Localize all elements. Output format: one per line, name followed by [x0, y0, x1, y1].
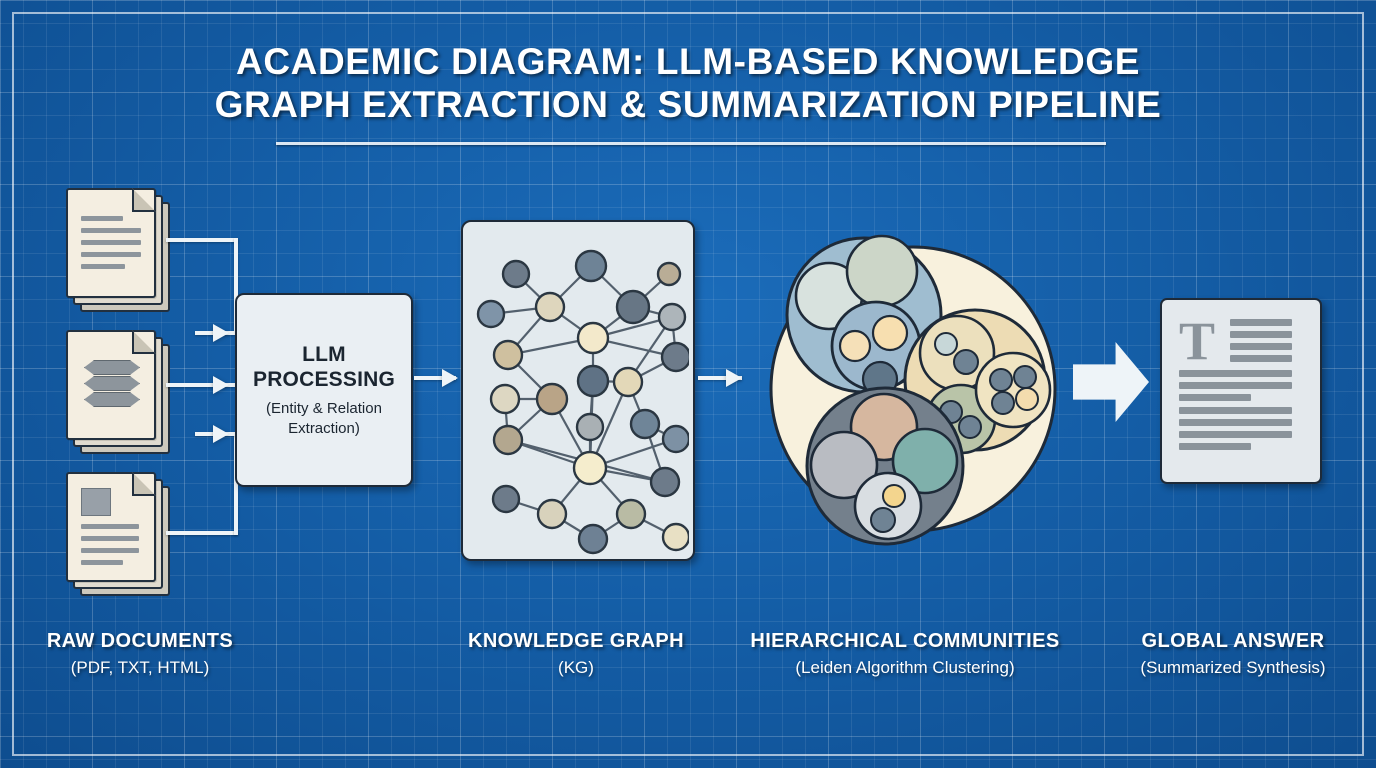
graph-node	[574, 452, 606, 484]
global-answer-document[interactable]: T	[1160, 298, 1322, 484]
graph-node	[493, 486, 519, 512]
caption-title: KNOWLEDGE GRAPH	[436, 630, 716, 653]
arrowhead-kg-comm	[726, 369, 742, 387]
caption-title: HIERARCHICAL COMMUNITIES	[700, 630, 1110, 653]
title-line-2: GRAPH EXTRACTION & SUMMARIZATION PIPELIN…	[0, 83, 1376, 126]
document-stack-image[interactable]	[66, 472, 166, 592]
document-stack-text[interactable]	[66, 188, 166, 308]
graph-node	[617, 500, 645, 528]
graph-node	[576, 251, 606, 281]
caption-global-answer: GLOBAL ANSWER (Summarized Synthesis)	[1090, 630, 1376, 678]
graph-node	[578, 366, 608, 396]
title-line-1: ACADEMIC DIAGRAM: LLM-BASED KNOWLEDGE	[0, 40, 1376, 83]
caption-subtitle: (Leiden Algorithm Clustering)	[700, 658, 1110, 678]
knowledge-graph-panel[interactable]	[461, 220, 695, 561]
graph-node	[578, 323, 608, 353]
knowledge-graph-network	[463, 222, 689, 555]
graph-node	[577, 414, 603, 440]
block-arrow-to-answer	[1073, 342, 1149, 422]
caption-title: RAW DOCUMENTS	[0, 630, 280, 653]
arrowhead-llm-kg	[442, 369, 458, 387]
arrowhead-doc3	[213, 425, 229, 443]
document-stack-layers[interactable]	[66, 330, 166, 450]
arrowhead-doc1	[213, 324, 229, 342]
caption-raw-documents: RAW DOCUMENTS (PDF, TXT, HTML)	[0, 630, 280, 678]
graph-node	[579, 525, 607, 553]
graph-node	[631, 410, 659, 438]
page-fold	[132, 472, 156, 496]
caption-subtitle: (PDF, TXT, HTML)	[0, 658, 280, 678]
graph-node	[651, 468, 679, 496]
page-title: ACADEMIC DIAGRAM: LLM-BASED KNOWLEDGE GR…	[0, 40, 1376, 126]
caption-subtitle: (Summarized Synthesis)	[1090, 658, 1376, 678]
graph-node	[494, 341, 522, 369]
document-image-icon	[66, 472, 156, 582]
graph-node	[536, 293, 564, 321]
llm-box-subtitle: (Entity & Relation Extraction)	[237, 399, 411, 439]
diagram-canvas: ACADEMIC DIAGRAM: LLM-BASED KNOWLEDGE GR…	[0, 0, 1376, 768]
graph-node	[663, 426, 689, 452]
graph-node	[494, 426, 522, 454]
connector-doc3-h	[166, 531, 238, 535]
connector-doc1-h	[166, 238, 238, 242]
layers-glyph	[84, 360, 138, 406]
graph-node	[538, 500, 566, 528]
caption-subtitle: (KG)	[436, 658, 716, 678]
page-fold	[132, 188, 156, 212]
graph-node	[537, 384, 567, 414]
caption-title: GLOBAL ANSWER	[1090, 630, 1376, 653]
page-fold	[132, 330, 156, 354]
graph-node	[658, 263, 680, 285]
graph-node	[614, 368, 642, 396]
title-underline	[276, 142, 1106, 145]
graph-node	[659, 304, 685, 330]
document-lines-icon	[66, 188, 156, 298]
graph-node	[662, 343, 689, 371]
graph-node	[503, 261, 529, 287]
dropcap-letter: T	[1179, 316, 1215, 366]
image-placeholder	[81, 488, 111, 516]
arrowhead-doc2	[213, 376, 229, 394]
caption-knowledge-graph: KNOWLEDGE GRAPH (KG)	[436, 630, 716, 678]
graph-node	[491, 385, 519, 413]
graph-node	[617, 291, 649, 323]
hierarchical-communities-graphic[interactable]	[767, 203, 1059, 575]
llm-processing-box[interactable]: LLM PROCESSING (Entity & Relation Extrac…	[235, 293, 413, 487]
community-circles	[767, 203, 1059, 575]
graph-node	[478, 301, 504, 327]
graph-node	[663, 524, 689, 550]
document-layers-icon	[66, 330, 156, 440]
cluster-slate	[807, 388, 963, 544]
llm-box-title: LLM PROCESSING	[237, 342, 411, 392]
caption-hierarchical-communities: HIERARCHICAL COMMUNITIES (Leiden Algorit…	[700, 630, 1110, 678]
